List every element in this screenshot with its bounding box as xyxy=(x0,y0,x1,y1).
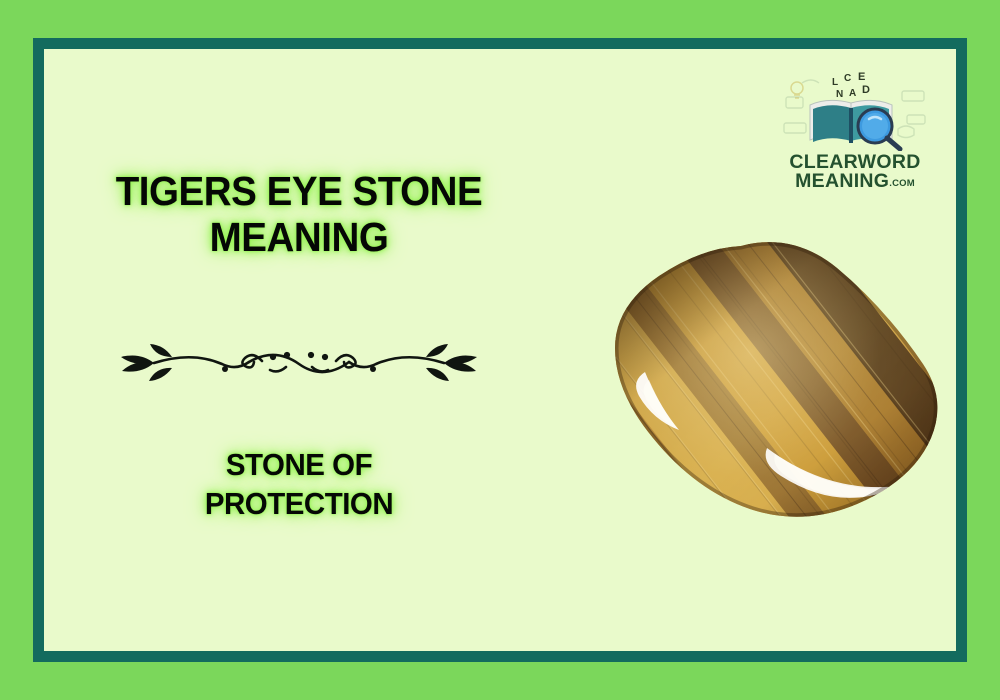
poster-frame: L C E N A D xyxy=(33,38,967,662)
page-title-line1: TIGERS EYE STONE xyxy=(88,169,511,215)
svg-text:L: L xyxy=(832,77,838,88)
svg-text:E: E xyxy=(858,71,865,83)
logo-wordmark: CLEARWORD MEANING.COM xyxy=(780,153,930,190)
logo-wordmark-meaning: MEANING xyxy=(795,170,889,192)
logo-tld: .COM xyxy=(889,178,915,189)
svg-text:D: D xyxy=(862,84,870,96)
clearword-meaning-logo[interactable]: L C E N A D xyxy=(780,71,930,193)
text-column: TIGERS EYE STONE MEANING xyxy=(74,169,524,524)
svg-text:A: A xyxy=(849,88,856,99)
svg-text:C: C xyxy=(844,73,851,84)
page-subtitle-line2: PROTECTION xyxy=(85,484,513,524)
page-subtitle: STONE OF PROTECTION xyxy=(85,445,513,524)
poster-canvas: L C E N A D xyxy=(0,0,1000,700)
page-subtitle-line1: STONE OF xyxy=(85,445,513,485)
poster-inner-panel: L C E N A D xyxy=(44,49,956,651)
tigers-eye-stone-image xyxy=(591,234,971,604)
logo-wordmark-line2: MEANING.COM xyxy=(780,172,930,191)
svg-text:N: N xyxy=(836,89,843,100)
open-book-with-magnifying-glass-icon: L C E N A D xyxy=(780,71,930,151)
page-title: TIGERS EYE STONE MEANING xyxy=(88,169,511,261)
ornamental-flourish-divider xyxy=(110,339,488,383)
page-title-line2: MEANING xyxy=(88,215,511,261)
